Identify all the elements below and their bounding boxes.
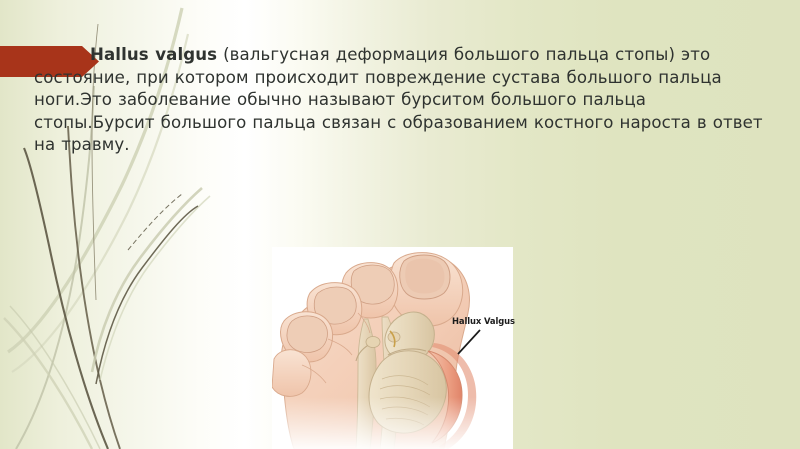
figure-caption: Hallux Valgus bbox=[452, 316, 515, 326]
slide-body-text: Hallus valgus (вальгусная деформация бол… bbox=[34, 44, 768, 157]
figure-pointer-line bbox=[452, 328, 492, 356]
lead-term: Hallus valgus bbox=[90, 45, 217, 64]
presentation-slide: Hallus valgus (вальгусная деформация бол… bbox=[0, 0, 800, 449]
